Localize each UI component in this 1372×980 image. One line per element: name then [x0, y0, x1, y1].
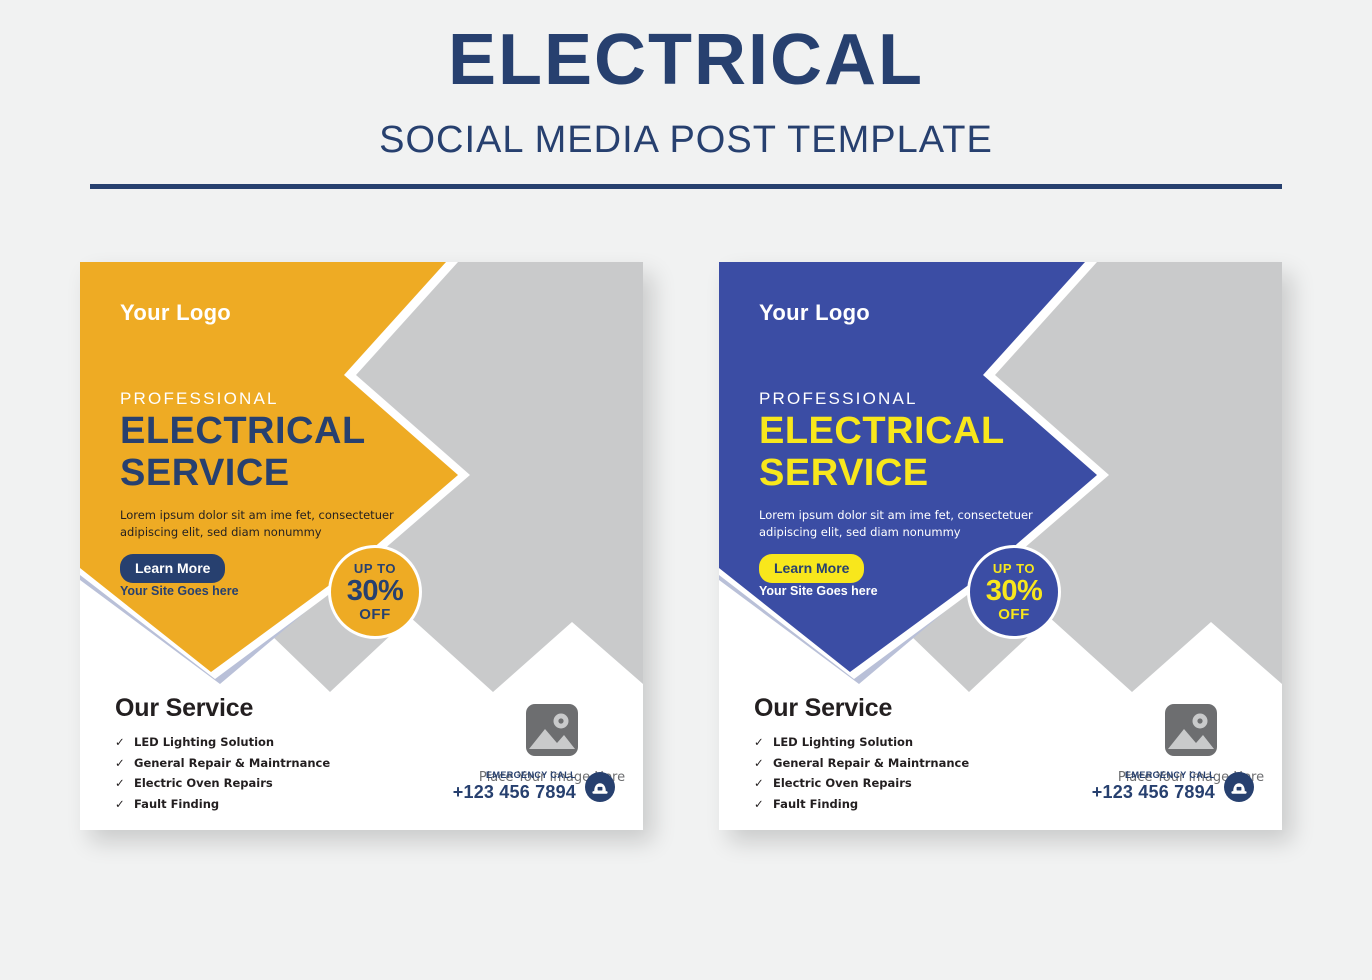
body-text: Lorem ipsum dolor sit am ime fet, consec…	[120, 507, 410, 541]
logo-text: Your Logo	[120, 300, 231, 326]
check-icon: ✓	[754, 773, 773, 794]
check-icon: ✓	[754, 753, 773, 774]
post-card-blue[interactable]: Place Your Image Here Your Logo PROFESSI…	[719, 262, 1282, 830]
emergency-text: EMERGENCY CALL +123 456 7894	[453, 770, 576, 803]
page-subtitle: SOCIAL MEDIA POST TEMPLATE	[0, 96, 1372, 160]
service-label: General Repair & Maintrnance	[773, 756, 969, 770]
service-label: LED Lighting Solution	[134, 735, 274, 749]
emergency-call-block[interactable]: EMERGENCY CALL +123 456 7894	[453, 770, 615, 803]
site-url-text: Your Site Goes here	[759, 584, 878, 598]
emergency-text: EMERGENCY CALL +123 456 7894	[1092, 770, 1215, 803]
headline-line-1: ELECTRICAL	[759, 410, 1005, 452]
discount-badge: UP TO 30% OFF	[967, 545, 1061, 639]
post-card-yellow[interactable]: Place Your Image Here Your Logo PROFESSI…	[80, 262, 643, 830]
badge-up-to: UP TO	[354, 562, 396, 576]
service-item: ✓LED Lighting Solution	[754, 732, 969, 753]
headline: ELECTRICAL SERVICE	[759, 410, 1089, 494]
image-placeholder-icon	[1163, 702, 1219, 758]
emergency-call-block[interactable]: EMERGENCY CALL +123 456 7894	[1092, 770, 1254, 803]
services-title: Our Service	[115, 694, 253, 723]
service-label: General Repair & Maintrnance	[134, 756, 330, 770]
emergency-number: +123 456 7894	[453, 782, 576, 803]
site-url-text: Your Site Goes here	[120, 584, 239, 598]
service-label: Fault Finding	[134, 797, 219, 811]
discount-badge: UP TO 30% OFF	[328, 545, 422, 639]
headline-line-2: SERVICE	[759, 452, 929, 494]
check-icon: ✓	[754, 794, 773, 815]
page-title: ELECTRICAL	[0, 0, 1372, 96]
telephone-icon	[585, 772, 615, 802]
body-text: Lorem ipsum dolor sit am ime fet, consec…	[759, 507, 1049, 541]
check-icon: ✓	[754, 732, 773, 753]
logo-text: Your Logo	[759, 300, 870, 326]
services-title: Our Service	[754, 694, 892, 723]
service-label: LED Lighting Solution	[773, 735, 913, 749]
service-label: Electric Oven Repairs	[134, 776, 273, 790]
check-icon: ✓	[115, 753, 134, 774]
check-icon: ✓	[115, 794, 134, 815]
service-item: ✓Electric Oven Repairs	[754, 773, 969, 794]
service-item: ✓Fault Finding	[115, 794, 330, 815]
services-list: ✓LED Lighting Solution ✓General Repair &…	[754, 732, 969, 814]
headline-line-1: ELECTRICAL	[120, 410, 366, 452]
service-item: ✓Fault Finding	[754, 794, 969, 815]
service-item: ✓Electric Oven Repairs	[115, 773, 330, 794]
badge-percent: 30%	[986, 576, 1043, 606]
eyebrow-text: PROFESSIONAL	[120, 389, 279, 409]
badge-up-to: UP TO	[993, 562, 1035, 576]
emergency-label: EMERGENCY CALL	[1092, 770, 1215, 780]
services-list: ✓LED Lighting Solution ✓General Repair &…	[115, 732, 330, 814]
image-placeholder-icon	[524, 702, 580, 758]
emergency-label: EMERGENCY CALL	[453, 770, 576, 780]
learn-more-button[interactable]: Learn More	[759, 554, 864, 583]
service-item: ✓LED Lighting Solution	[115, 732, 330, 753]
check-icon: ✓	[115, 773, 134, 794]
service-label: Fault Finding	[773, 797, 858, 811]
emergency-number: +123 456 7894	[1092, 782, 1215, 803]
check-icon: ✓	[115, 732, 134, 753]
headline: ELECTRICAL SERVICE	[120, 410, 450, 494]
page-header: ELECTRICAL SOCIAL MEDIA POST TEMPLATE	[0, 0, 1372, 160]
badge-off: OFF	[998, 606, 1030, 623]
service-item: ✓General Repair & Maintrnance	[754, 753, 969, 774]
telephone-icon	[1224, 772, 1254, 802]
service-item: ✓General Repair & Maintrnance	[115, 753, 330, 774]
learn-more-button[interactable]: Learn More	[120, 554, 225, 583]
badge-off: OFF	[359, 606, 391, 623]
badge-percent: 30%	[347, 576, 404, 606]
service-label: Electric Oven Repairs	[773, 776, 912, 790]
poster-page: ELECTRICAL SOCIAL MEDIA POST TEMPLATE Pl…	[0, 0, 1372, 980]
eyebrow-text: PROFESSIONAL	[759, 389, 918, 409]
headline-line-2: SERVICE	[120, 452, 290, 494]
header-divider	[90, 184, 1282, 189]
